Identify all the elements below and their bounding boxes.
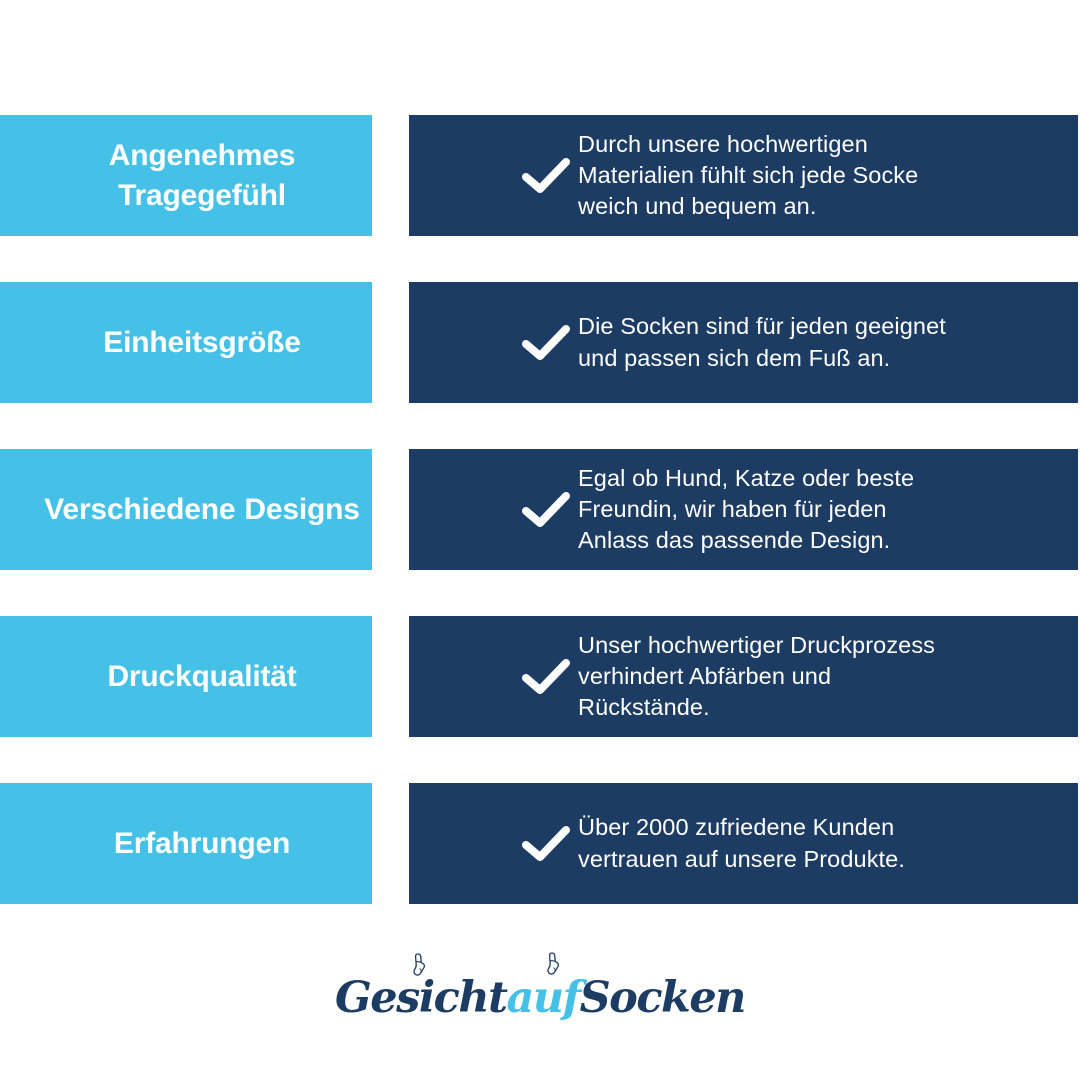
feature-label-text: Angenehmes Tragegefühl bbox=[40, 136, 364, 215]
check-icon bbox=[514, 658, 578, 696]
check-icon bbox=[514, 825, 578, 863]
feature-row: Verschiedene Designs Egal ob Hund, Katze… bbox=[0, 449, 1080, 570]
sock-icon bbox=[413, 953, 426, 979]
feature-label-text: Druckqualität bbox=[107, 657, 296, 697]
feature-description-text: Die Socken sind für jeden geeignet und p… bbox=[578, 311, 1078, 374]
feature-description-panel: Über 2000 zufriedene Kunden vertrauen au… bbox=[409, 783, 1078, 904]
feature-row: Angenehmes Tragegefühl Durch unsere hoch… bbox=[0, 115, 1080, 236]
feature-list-graphic: Angenehmes Tragegefühl Durch unsere hoch… bbox=[0, 0, 1080, 1080]
logo-text-part-2: auf bbox=[506, 973, 579, 1023]
feature-label-box: Einheitsgröße bbox=[0, 282, 372, 403]
feature-description-panel: Die Socken sind für jeden geeignet und p… bbox=[409, 282, 1078, 403]
feature-label-text: Verschiedene Designs bbox=[44, 490, 360, 530]
logo-text-part-1: Gesicht bbox=[335, 973, 506, 1023]
feature-label-text: Einheitsgröße bbox=[103, 323, 300, 363]
feature-row: Einheitsgröße Die Socken sind für jeden … bbox=[0, 282, 1080, 403]
brand-logo: GesichtaufSocken bbox=[0, 958, 1080, 1038]
check-icon bbox=[514, 324, 578, 362]
feature-label-box: Angenehmes Tragegefühl bbox=[0, 115, 372, 236]
feature-row: Druckqualität Unser hochwertiger Druckpr… bbox=[0, 616, 1080, 737]
feature-description-text: Über 2000 zufriedene Kunden vertrauen au… bbox=[578, 812, 1078, 875]
feature-row: Erfahrungen Über 2000 zufriedene Kunden … bbox=[0, 783, 1080, 904]
check-icon bbox=[514, 157, 578, 195]
sock-icon bbox=[547, 952, 560, 978]
feature-description-panel: Durch unsere hochwertigen Materialien fü… bbox=[409, 115, 1078, 236]
feature-label-text: Erfahrungen bbox=[114, 824, 290, 864]
feature-label-box: Erfahrungen bbox=[0, 783, 372, 904]
feature-description-text: Unser hochwertiger Druckprozess verhinde… bbox=[578, 630, 1078, 724]
feature-description-panel: Egal ob Hund, Katze oder beste Freundin,… bbox=[409, 449, 1078, 570]
check-icon bbox=[514, 491, 578, 529]
feature-label-box: Druckqualität bbox=[0, 616, 372, 737]
logo-text-part-3: Socken bbox=[580, 973, 745, 1023]
feature-description-panel: Unser hochwertiger Druckprozess verhinde… bbox=[409, 616, 1078, 737]
feature-description-text: Egal ob Hund, Katze oder beste Freundin,… bbox=[578, 463, 1078, 557]
feature-description-text: Durch unsere hochwertigen Materialien fü… bbox=[578, 129, 1078, 223]
feature-label-box: Verschiedene Designs bbox=[0, 449, 372, 570]
